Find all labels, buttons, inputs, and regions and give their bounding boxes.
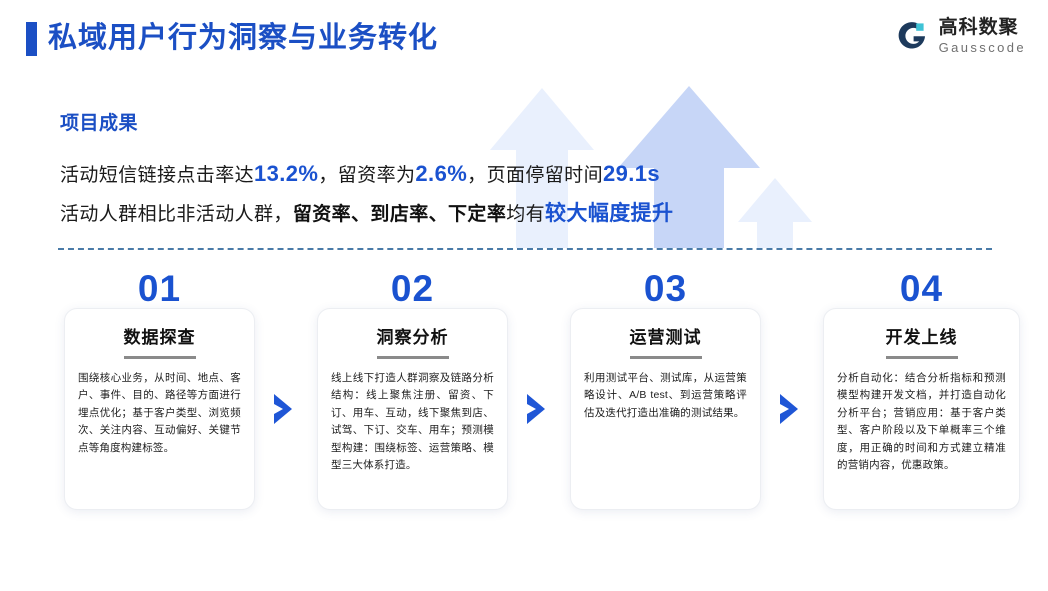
logo-name-cn: 高科数聚 [939, 18, 1026, 37]
logo-text: 高科数聚 Gausscode [939, 18, 1026, 54]
step-body-3: 利用测试平台、测试库，从运营策略设计、A/B test、到运营策略评估及迭代打造… [584, 370, 747, 423]
title-accent-bar [26, 22, 37, 56]
metric-click-rate: 13.2% [254, 161, 318, 186]
results-section: 项目成果 活动短信链接点击率达13.2%，留资率为2.6%，页面停留时间29.1… [60, 108, 760, 234]
results-line2-seg2: 均有 [506, 204, 545, 225]
results-line1-seg2: ，留资率为 [318, 165, 415, 186]
results-line-2: 活动人群相比非活动人群，留资率、到店率、下定率均有较大幅度提升 [60, 195, 760, 234]
results-line1-seg1: 活动短信链接点击率达 [60, 165, 254, 186]
results-line2-highlight: 较大幅度提升 [545, 202, 673, 225]
step-number-4: 04 [824, 269, 1019, 309]
results-line1-seg3: ，页面停留时间 [467, 165, 603, 186]
logo-name-en: Gausscode [939, 41, 1026, 54]
metric-dwell-time: 29.1s [603, 161, 660, 186]
step-card-3[interactable]: 03 运营测试 利用测试平台、测试库，从运营策略设计、A/B test、到运营策… [570, 308, 761, 510]
step-title-2: 洞察分析 [318, 323, 507, 348]
step-card-2[interactable]: 02 洞察分析 线上线下打造人群洞察及链路分析结构：线上聚焦注册、留资、下订、用… [317, 308, 508, 510]
step-rule-2 [377, 356, 449, 359]
step-rule-4 [886, 356, 958, 359]
chevron-right-icon-1 [272, 392, 294, 426]
results-line-1: 活动短信链接点击率达13.2%，留资率为2.6%，页面停留时间29.1s [60, 155, 760, 195]
results-line2-bold: 留资率、到店率、下定率 [293, 204, 506, 225]
chevron-right-icon-2 [525, 392, 547, 426]
step-card-1[interactable]: 01 数据探查 围绕核心业务，从时间、地点、客户、事件、目的、路径等方面进行埋点… [64, 308, 255, 510]
step-rule-1 [124, 356, 196, 359]
section-divider [58, 248, 992, 250]
logo-mark-icon [894, 18, 930, 54]
step-card-4[interactable]: 04 开发上线 分析自动化：结合分析指标和预测模型构建开发文档，并打造自动化分析… [823, 308, 1020, 510]
slide-header: 私域用户行为洞察与业务转化 高科数聚 Gausscode [0, 0, 1048, 78]
chevron-right-icon-3 [778, 392, 800, 426]
steps-section: 01 数据探查 围绕核心业务，从时间、地点、客户、事件、目的、路径等方面进行埋点… [0, 272, 1048, 532]
slide-root: 私域用户行为洞察与业务转化 高科数聚 Gausscode 项目成果 活动短信链接… [0, 0, 1048, 591]
brand-logo: 高科数聚 Gausscode [894, 18, 1026, 54]
page-title: 私域用户行为洞察与业务转化 [48, 18, 438, 58]
step-title-3: 运营测试 [571, 323, 760, 348]
step-body-4: 分析自动化：结合分析指标和预测模型构建开发文档，并打造自动化分析平台；营销应用：… [837, 370, 1006, 475]
step-number-3: 03 [571, 269, 760, 309]
results-heading: 项目成果 [60, 108, 760, 135]
step-number-2: 02 [318, 269, 507, 309]
step-body-1: 围绕核心业务，从时间、地点、客户、事件、目的、路径等方面进行埋点优化；基于客户类… [78, 370, 241, 458]
metric-lead-rate: 2.6% [415, 161, 467, 186]
results-line2-seg1: 活动人群相比非活动人群， [60, 204, 293, 225]
step-title-4: 开发上线 [824, 323, 1019, 348]
step-body-2: 线上线下打造人群洞察及链路分析结构：线上聚焦注册、留资、下订、用车、互动，线下聚… [331, 370, 494, 475]
step-rule-3 [630, 356, 702, 359]
step-title-1: 数据探查 [65, 323, 254, 348]
step-number-1: 01 [65, 269, 254, 309]
